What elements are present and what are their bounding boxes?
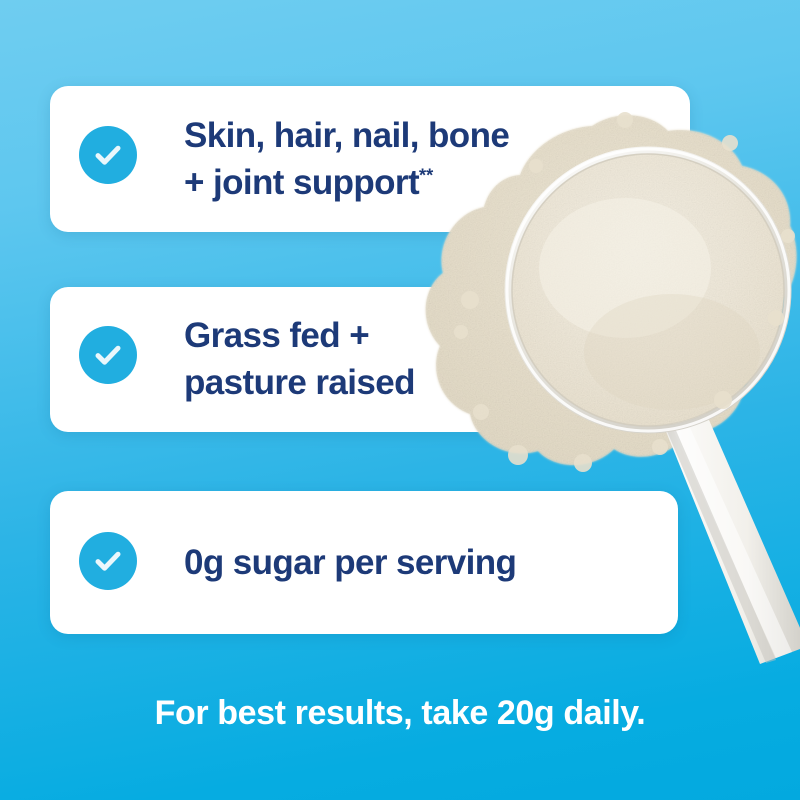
benefit-card-zero-sugar: 0g sugar per serving [50, 491, 678, 634]
benefit-card-2-line1: Grass fed + [184, 316, 369, 355]
footer-note: For best results, take 20g daily. [0, 694, 800, 733]
benefit-card-1-footnote-marker: ** [419, 165, 433, 185]
benefit-card-1-line2: + joint support [184, 163, 419, 202]
checkmark-icon [79, 126, 137, 184]
product-benefits-graphic: Skin, hair, nail, bone+ joint support** … [0, 0, 800, 800]
checkmark-icon [79, 326, 137, 384]
benefit-card-1-text: Skin, hair, nail, bone+ joint support** [184, 112, 509, 206]
benefit-card-2-line2: pasture raised [184, 363, 415, 402]
benefit-card-3-text: 0g sugar per serving [184, 539, 516, 586]
benefit-card-1-line1: Skin, hair, nail, bone [184, 116, 509, 155]
benefit-card-2-text: Grass fed +pasture raised [184, 312, 415, 406]
checkmark-icon [79, 532, 137, 590]
benefit-card-grass-fed-pasture-raised: Grass fed +pasture raised [50, 287, 690, 432]
benefit-card-skin-hair-nail-bone-joint: Skin, hair, nail, bone+ joint support** [50, 86, 690, 232]
